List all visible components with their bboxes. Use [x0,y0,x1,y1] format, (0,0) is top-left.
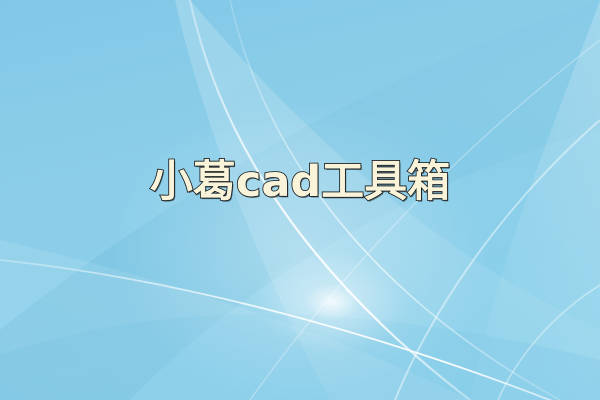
page-title: 小葛cad工具箱 [0,158,600,206]
title-layer: 小葛cad工具箱 [0,0,600,400]
presentation-slide: 小葛cad工具箱 [0,0,600,400]
